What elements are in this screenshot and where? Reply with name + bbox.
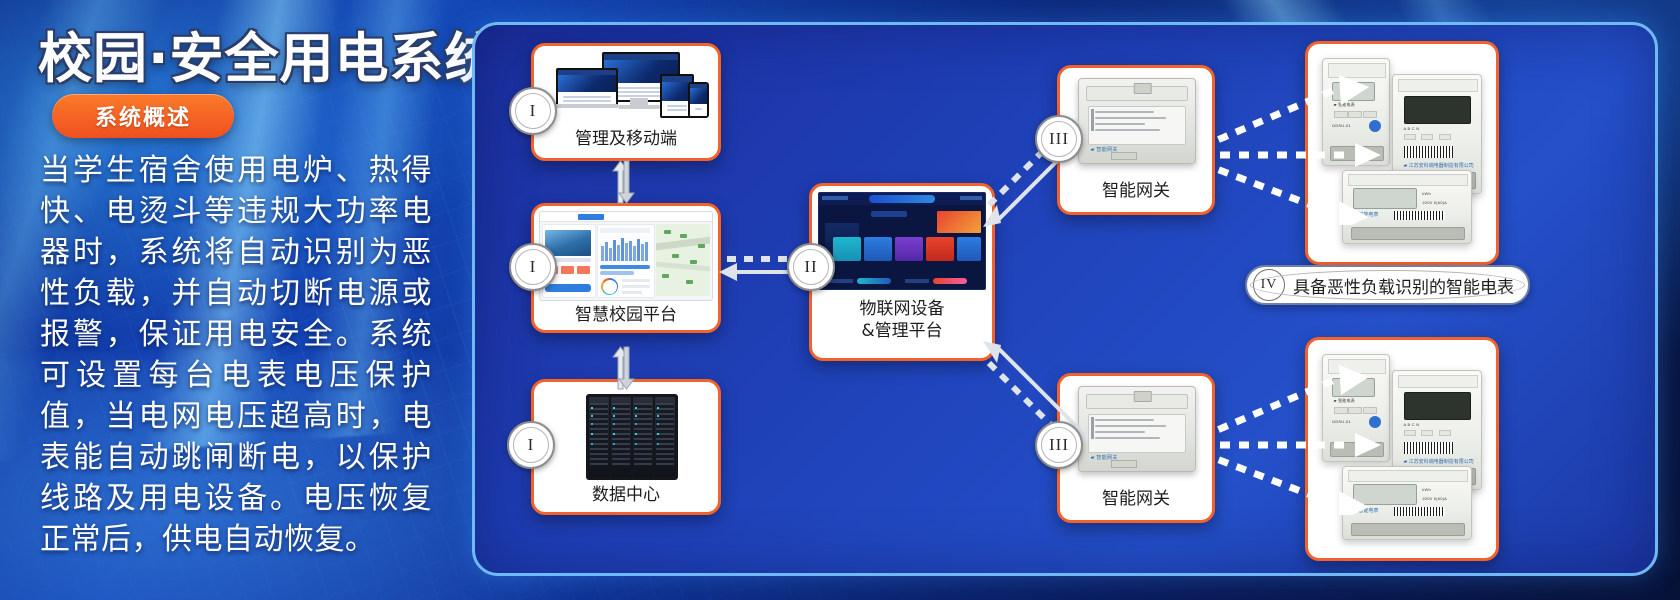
numeral-chip-data-center-text: I: [528, 435, 535, 455]
node-data-center-label: 数据中心: [534, 484, 718, 506]
infographic-root: 校园·安全用电系统 系统概述 当学生宿舍使用电炉、热得快、电烫斗等违规大功率电器…: [0, 0, 1680, 600]
node-management-label: 管理及移动端: [575, 128, 677, 150]
phone-screen-icon: [688, 82, 709, 118]
numeral-chip-smart-meters-text: IV: [1261, 277, 1278, 293]
monitor-stand: [630, 98, 648, 105]
node-iot-platform-label-line2: &管理平台: [861, 320, 942, 342]
management-devices-art: [542, 50, 710, 126]
node-campus-platform-label: 智慧校园平台: [575, 304, 677, 326]
campus-platform-screenshot: [539, 211, 713, 301]
numeral-chip-iot-platform: II: [787, 243, 835, 291]
smart-meters-callout[interactable]: IV 具备恶性负载识别的智能电表: [1245, 265, 1530, 305]
overview-paragraph: 当学生宿舍使用电炉、热得快、电烫斗等违规大功率电器时，系统将自动识别为恶性负载，…: [40, 150, 432, 560]
arrow-gateway-top-meters: [1187, 65, 1387, 225]
numeral-chip-campus-platform-text: I: [530, 257, 537, 277]
section-badge: 系统概述: [52, 94, 234, 138]
arrow-gateway-bottom-meters: [1187, 355, 1387, 515]
numeral-chip-management: I: [509, 87, 557, 135]
numeral-chip-campus-platform: I: [509, 243, 557, 291]
iot-dashboard-screenshot: [818, 192, 986, 290]
laptop-screen-icon: [556, 68, 618, 108]
numeral-chip-smart-meters: IV: [1253, 269, 1285, 301]
left-text-column: 校园·安全用电系统 系统概述 当学生宿舍使用电炉、热得快、电烫斗等违规大功率电器…: [0, 0, 470, 600]
laptop-base: [552, 104, 618, 108]
node-data-center[interactable]: 数据中心: [531, 379, 721, 515]
numeral-chip-data-center: I: [507, 421, 555, 469]
monitor-base: [618, 105, 660, 109]
server-rack-icon: [586, 394, 678, 480]
numeral-chip-iot-platform-text: II: [804, 257, 817, 277]
node-iot-platform[interactable]: 物联网设备 &管理平台: [809, 183, 995, 361]
arrow-platform-datacenter: [609, 345, 639, 391]
arrow-management-platform: [609, 159, 639, 205]
node-iot-platform-label-line1: 物联网设备: [860, 298, 945, 320]
numeral-chip-gateway-bottom-text: III: [1049, 435, 1069, 455]
section-badge-label: 系统概述: [95, 100, 191, 132]
numeral-chip-gateway-top-text: III: [1049, 129, 1069, 149]
numeral-chip-management-text: I: [530, 101, 537, 121]
diagram-panel: 管理及移动端 I: [472, 22, 1658, 576]
node-management-mobile[interactable]: 管理及移动端: [531, 43, 721, 161]
node-campus-platform[interactable]: 智慧校园平台: [531, 203, 721, 333]
page-title: 校园·安全用电系统: [38, 14, 500, 93]
numeral-chip-gateway-top: III: [1035, 115, 1083, 163]
numeral-chip-gateway-bottom: III: [1035, 421, 1083, 469]
